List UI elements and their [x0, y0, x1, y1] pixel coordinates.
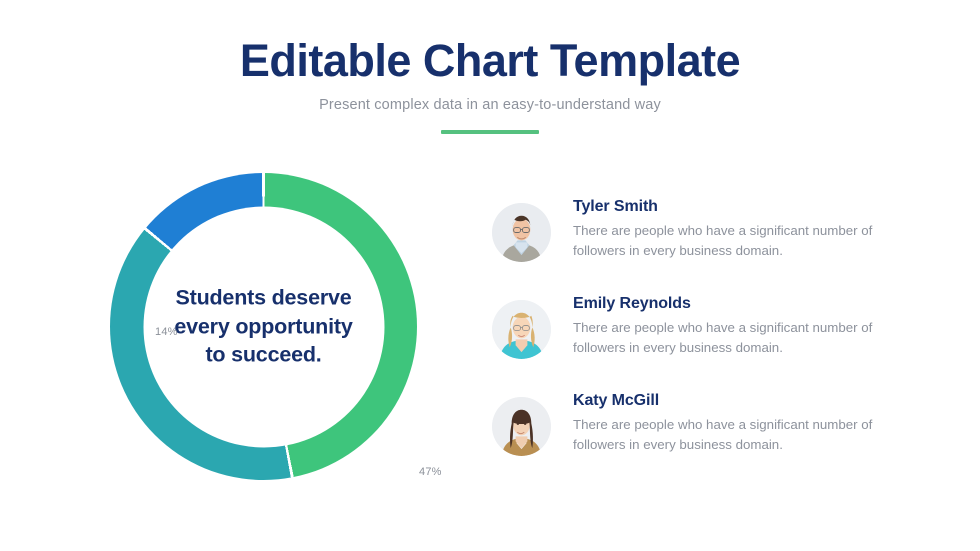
- person-name: Emily Reynolds: [573, 295, 923, 313]
- donut-label-blue: 14%: [155, 326, 178, 338]
- page-subtitle: Present complex data in an easy-to-under…: [0, 97, 980, 113]
- person-description: There are people who have a significant …: [573, 415, 923, 454]
- slide-canvas: Editable Chart Template Present complex …: [0, 0, 980, 551]
- avatar-katy-mcgill: [492, 397, 551, 456]
- donut-label-green: 47%: [419, 466, 442, 478]
- person-name: Tyler Smith: [573, 198, 923, 216]
- person-name: Katy McGill: [573, 392, 923, 410]
- avatar-tyler-smith: [492, 203, 551, 262]
- page-title: Editable Chart Template: [0, 36, 980, 86]
- list-item[interactable]: Emily Reynolds There are people who have…: [492, 293, 952, 359]
- person-text-block: Katy McGill There are people who have a …: [573, 390, 923, 454]
- list-item[interactable]: Katy McGill There are people who have a …: [492, 390, 952, 456]
- person-description: There are people who have a significant …: [573, 221, 923, 260]
- donut-chart: Students deserve every opportunity to su…: [75, 160, 475, 500]
- people-list: Tyler Smith There are people who have a …: [492, 196, 952, 456]
- donut-center-label: Students deserve every opportunity to su…: [164, 284, 364, 369]
- person-text-block: Tyler Smith There are people who have a …: [573, 196, 923, 260]
- list-item[interactable]: Tyler Smith There are people who have a …: [492, 196, 952, 262]
- slide-header: Editable Chart Template Present complex …: [0, 36, 980, 134]
- avatar-emily-reynolds: [492, 300, 551, 359]
- accent-divider: [441, 130, 539, 134]
- person-description: There are people who have a significant …: [573, 318, 923, 357]
- person-text-block: Emily Reynolds There are people who have…: [573, 293, 923, 357]
- donut-center-hole: Students deserve every opportunity to su…: [143, 206, 384, 447]
